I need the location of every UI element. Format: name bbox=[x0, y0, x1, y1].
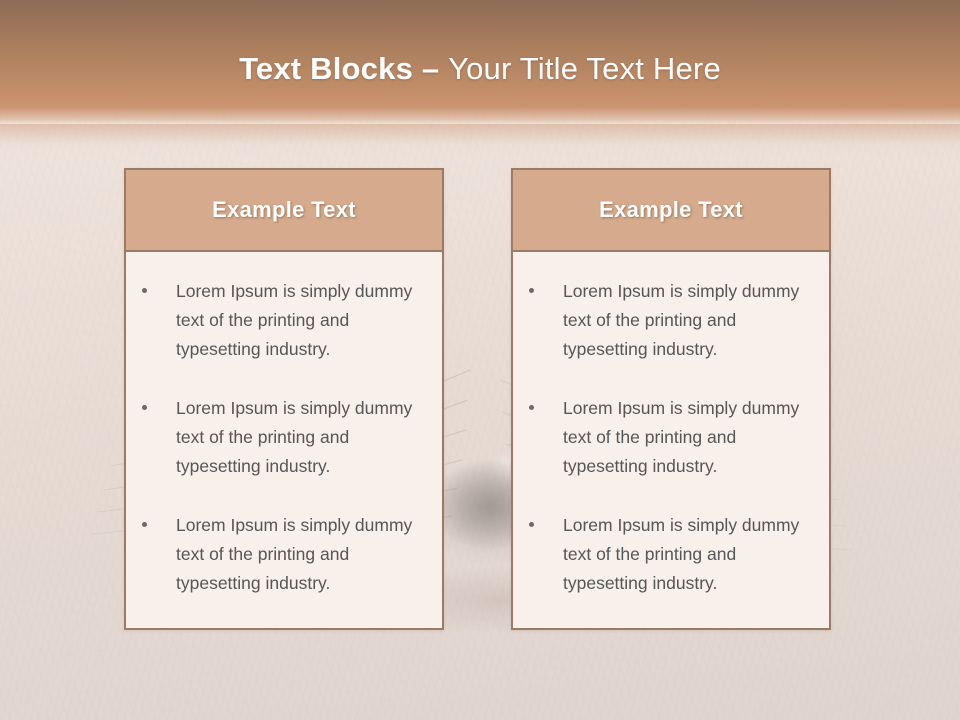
list-item-text: Lorem Ipsum is simply dummy text of the … bbox=[563, 398, 799, 476]
bullet-dot-icon bbox=[142, 522, 147, 527]
card-header-right: Example Text bbox=[513, 170, 829, 252]
list-item-text: Lorem Ipsum is simply dummy text of the … bbox=[176, 515, 412, 593]
bullet-dot-icon bbox=[529, 405, 534, 410]
card-header-left: Example Text bbox=[126, 170, 442, 252]
list-item-text: Lorem Ipsum is simply dummy text of the … bbox=[176, 281, 412, 359]
bullet-dot-icon bbox=[142, 288, 147, 293]
bullet-list-right: Lorem Ipsum is simply dummy text of the … bbox=[521, 277, 811, 598]
text-block-card-left[interactable]: Example Text Lorem Ipsum is simply dummy… bbox=[124, 168, 444, 630]
card-body-left: Lorem Ipsum is simply dummy text of the … bbox=[126, 252, 442, 598]
list-item: Lorem Ipsum is simply dummy text of the … bbox=[521, 511, 811, 598]
list-item: Lorem Ipsum is simply dummy text of the … bbox=[134, 511, 424, 598]
bullet-dot-icon bbox=[142, 405, 147, 410]
text-blocks-container: Example Text Lorem Ipsum is simply dummy… bbox=[0, 0, 960, 720]
card-header-label: Example Text bbox=[212, 197, 356, 223]
bullet-dot-icon bbox=[529, 522, 534, 527]
bullet-dot-icon bbox=[529, 288, 534, 293]
list-item: Lorem Ipsum is simply dummy text of the … bbox=[134, 394, 424, 481]
presentation-slide: Text Blocks – Your Title Text Here Examp… bbox=[0, 0, 960, 720]
text-block-card-right[interactable]: Example Text Lorem Ipsum is simply dummy… bbox=[511, 168, 831, 630]
list-item: Lorem Ipsum is simply dummy text of the … bbox=[521, 277, 811, 364]
list-item-text: Lorem Ipsum is simply dummy text of the … bbox=[563, 281, 799, 359]
card-header-label: Example Text bbox=[599, 197, 743, 223]
list-item-text: Lorem Ipsum is simply dummy text of the … bbox=[176, 398, 412, 476]
bullet-list-left: Lorem Ipsum is simply dummy text of the … bbox=[134, 277, 424, 598]
list-item: Lorem Ipsum is simply dummy text of the … bbox=[134, 277, 424, 364]
card-body-right: Lorem Ipsum is simply dummy text of the … bbox=[513, 252, 829, 598]
list-item-text: Lorem Ipsum is simply dummy text of the … bbox=[563, 515, 799, 593]
list-item: Lorem Ipsum is simply dummy text of the … bbox=[521, 394, 811, 481]
